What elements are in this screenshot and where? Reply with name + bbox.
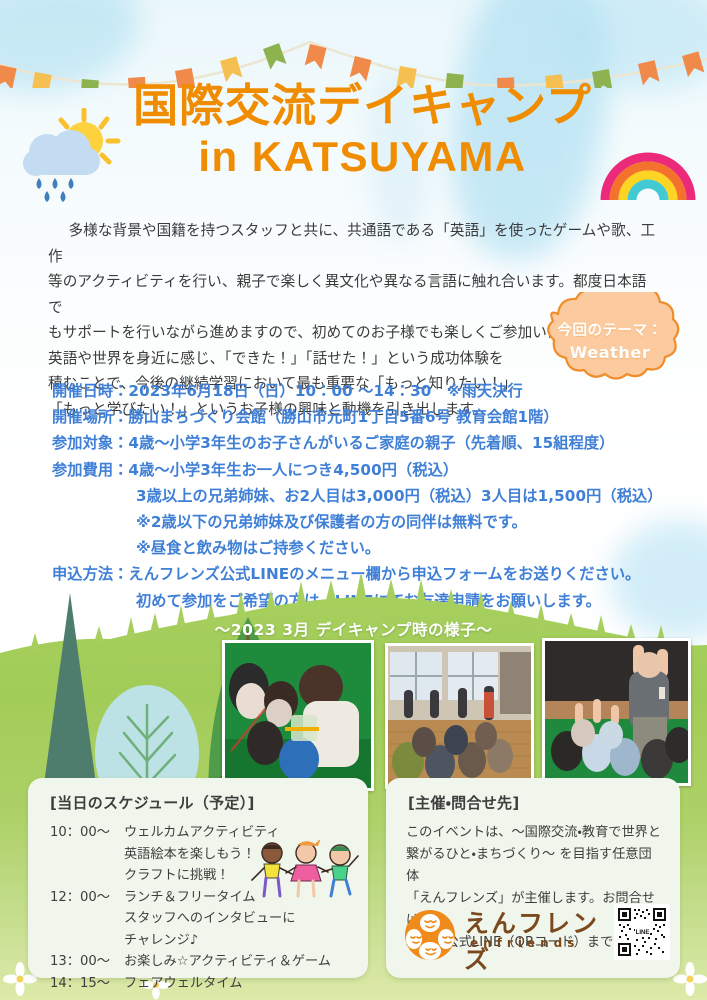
- schedule-sub-2b: チャレンジ♪: [50, 930, 350, 952]
- schedule-desc-4: フェアウェルタイム: [124, 973, 350, 995]
- photo-strip: [0, 575, 707, 765]
- schedule-card: [当日のスケジュール（予定）] 10：00〜 ウェルカムアクティビティ 英語絵本…: [28, 778, 368, 978]
- organizer-heading: [主催・問合せ先]: [408, 792, 520, 813]
- schedule-row-4: 14：15〜 フェアウェルタイム: [50, 973, 350, 995]
- organizer-body-line-2: 繋がるひと・まちづくり〜 を目指す任意団体: [406, 844, 664, 888]
- schedule-sub-2a: スタッフへのインタビューに: [50, 908, 350, 930]
- theme-label: 今回のテーマ：: [558, 320, 663, 342]
- three-children-holding-hands-icon: [250, 840, 362, 902]
- schedule-time-4: 14：15〜: [50, 973, 124, 995]
- schedule-desc-3: お楽しみ☆アクティビティ＆ゲーム: [124, 951, 350, 973]
- detail-audience: 参加対象：4歳〜小学3年生のお子さんがいるご家庭の親子（先着順、15組程度）: [52, 430, 682, 456]
- page-title: 国際交流デイキャンプ in KATSUYAMA: [0, 82, 707, 183]
- logo-text-en: enfriends: [470, 936, 579, 950]
- flyer-page: 国際交流デイキャンプ in KATSUYAMA 多様な背景や国籍を持つスタッフと…: [0, 0, 707, 1000]
- schedule-time-1: 10：00〜: [50, 822, 124, 844]
- qr-line-label: LINE: [636, 930, 650, 936]
- detail-datetime: 開催日時：2023年6月18日（日）10：00 〜14：30 ※雨天決行: [52, 378, 682, 404]
- theme-value: Weather: [570, 342, 651, 364]
- detail-fee: 参加費用：4歳〜小学3年生お一人につき4,500円（税込）: [52, 457, 682, 483]
- landscape-section: 〜2023 3月 デイキャンプ時の様子〜: [0, 575, 707, 1000]
- organizer-card: [主催・問合せ先] このイベントは、〜国際交流・教育で世界と 繋がるひと・まちづ…: [386, 778, 680, 978]
- title-line-1: 国際交流デイキャンプ: [0, 82, 707, 131]
- intro-line-1: 多様な背景や国籍を持つスタッフと共に、共通語である「英語」を使ったゲームや歌、工…: [48, 218, 660, 269]
- schedule-time-2: 12：00〜: [50, 887, 124, 909]
- detail-fee-siblings: 3歳以上の兄弟姉妹、お2人目は3,000円（税込）3人目は1,500円（税込）: [52, 483, 682, 509]
- schedule-heading: [当日のスケジュール（予定）]: [50, 792, 255, 813]
- schedule-time-3: 13：00〜: [50, 951, 124, 973]
- photo-gymnasium-group: [385, 643, 534, 789]
- detail-note-lunch: ※昼食と飲み物はご持参ください。: [52, 535, 682, 561]
- detail-venue: 開催場所：勝山まちづくり会館（勝山市元町1丁目5番6号 教育会館1階）: [52, 404, 682, 430]
- organizer-body-line-1: このイベントは、〜国際交流・教育で世界と: [406, 822, 664, 844]
- enfriends-logo: えんフレンズ enfriends: [404, 906, 604, 964]
- photo-hands-raised-activity: [542, 638, 691, 786]
- bunting-flags-icon: [0, 18, 707, 88]
- title-line-2: in KATSUYAMA: [0, 131, 707, 184]
- line-qr-code-icon[interactable]: LINE: [614, 904, 670, 960]
- photo-kids-craft-green-mat: [222, 640, 374, 791]
- detail-note-free: ※2歳以下の兄弟姉妹及び保護者の方の同伴は無料です。: [52, 509, 682, 535]
- schedule-row-3: 13：00〜 お楽しみ☆アクティビティ＆ゲーム: [50, 951, 350, 973]
- theme-badge: 今回のテーマ： Weather: [528, 292, 692, 392]
